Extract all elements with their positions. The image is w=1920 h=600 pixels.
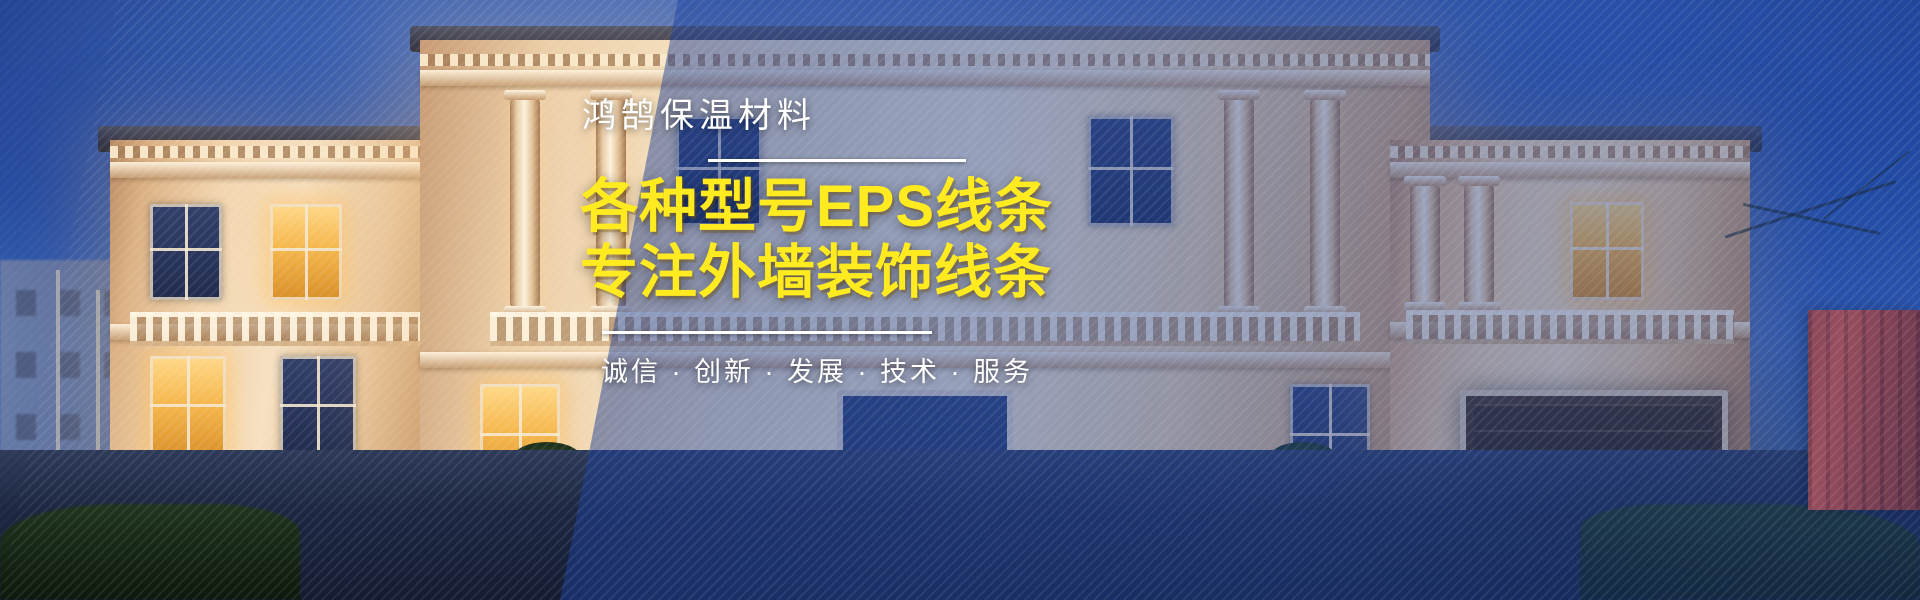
brand-name: 鸿鹄保温材料	[580, 96, 1040, 137]
divider-bottom	[602, 331, 932, 334]
tagline: 诚信 · 创新 · 发展 · 技术 · 服务	[580, 350, 1040, 389]
promo-banner: 鸿鹄保温材料 各种型号EPS线条 专注外墙装饰线条 诚信 · 创新 · 发展 ·…	[0, 0, 1920, 600]
banner-text-block: 鸿鹄保温材料 各种型号EPS线条 专注外墙装饰线条 诚信 · 创新 · 发展 ·…	[580, 96, 1040, 389]
headline-line-1: 各种型号EPS线条	[580, 176, 1040, 239]
divider-top	[708, 159, 966, 162]
headline-line-2: 专注外墙装饰线条	[580, 242, 1040, 305]
